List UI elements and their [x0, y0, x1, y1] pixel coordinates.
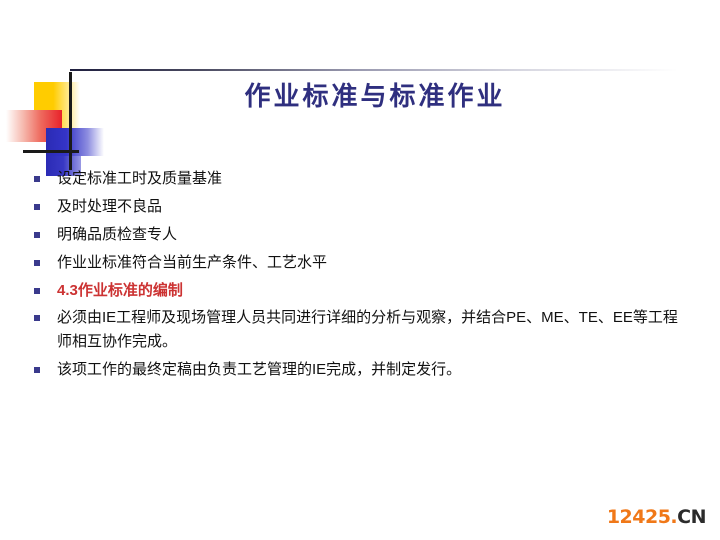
bullet-list: 设定标准工时及质量基准 及时处理不良品 明确品质检查专人 作业业标准符合当前生产… — [28, 166, 698, 385]
list-item-highlighted: 4.3作业标准的编制 — [28, 278, 698, 303]
header-decoration — [0, 60, 250, 170]
square-bullet-icon — [34, 288, 40, 294]
square-bullet-icon — [34, 204, 40, 210]
list-item: 明确品质检查专人 — [28, 222, 698, 247]
list-item: 作业业标准符合当前生产条件、工艺水平 — [28, 250, 698, 275]
list-item: 必须由IE工程师及现场管理人员共同进行详细的分析与观察，并结合PE、ME、TE、… — [28, 306, 698, 354]
watermark-tld: CN — [677, 506, 706, 528]
list-item-label: 作业业标准符合当前生产条件、工艺水平 — [57, 250, 698, 275]
square-bullet-icon — [34, 176, 40, 182]
list-item-label: 4.3作业标准的编制 — [57, 278, 698, 303]
slide-canvas: 作业标准与标准作业 设定标准工时及质量基准 及时处理不良品 明确品质检查专人 作… — [0, 0, 720, 540]
list-item: 及时处理不良品 — [28, 194, 698, 219]
vertical-rule-decoration — [69, 72, 72, 170]
title-underline-rule — [70, 69, 710, 71]
square-bullet-icon — [34, 260, 40, 266]
square-bullet-icon — [34, 232, 40, 238]
list-item-label: 该项工作的最终定稿由负责工艺管理的IE完成，并制定发行。 — [57, 357, 698, 382]
page-title: 作业标准与标准作业 — [175, 80, 575, 114]
list-item-label: 明确品质检查专人 — [57, 222, 698, 247]
list-item: 设定标准工时及质量基准 — [28, 166, 698, 191]
list-item-label: 必须由IE工程师及现场管理人员共同进行详细的分析与观察，并结合PE、ME、TE、… — [57, 306, 688, 354]
list-item: 该项工作的最终定稿由负责工艺管理的IE完成，并制定发行。 — [28, 357, 698, 382]
list-item-label: 及时处理不良品 — [57, 194, 698, 219]
square-bullet-icon — [34, 367, 40, 373]
square-bullet-icon — [34, 315, 40, 321]
watermark-number: 12425 — [607, 506, 671, 528]
site-watermark: 12425.CN — [607, 506, 706, 528]
list-item-label: 设定标准工时及质量基准 — [57, 166, 698, 191]
